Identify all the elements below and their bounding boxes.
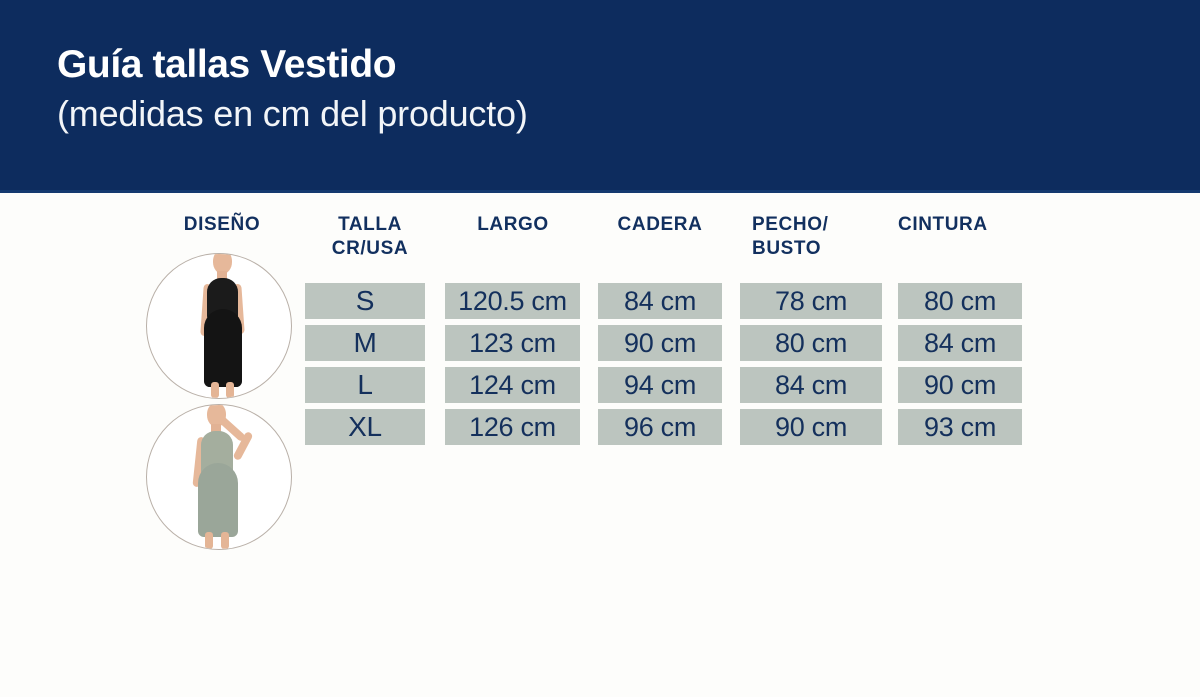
cell-largo-row2: 124 cm <box>445 367 580 403</box>
design-photo-sage-dress <box>146 404 292 550</box>
design-column <box>146 253 298 555</box>
header-banner: Guía tallas Vestido (medidas en cm del p… <box>0 0 1200 190</box>
cell-pecho-row1: 80 cm <box>740 325 882 361</box>
page-subtitle: (medidas en cm del producto) <box>57 92 1200 136</box>
cell-cadera-row1: 90 cm <box>598 325 722 361</box>
cell-pecho-row3: 90 cm <box>740 409 882 445</box>
column-header-diseno: DISEÑO <box>146 213 298 237</box>
cell-cadera-row2: 94 cm <box>598 367 722 403</box>
cell-talla-row1: M <box>305 325 425 361</box>
column-header-pecho-line1: PECHO/ <box>752 213 884 237</box>
column-header-talla-line1: TALLA <box>300 213 440 237</box>
cell-cadera-row0: 84 cm <box>598 283 722 319</box>
cell-cintura-row0: 80 cm <box>898 283 1022 319</box>
dress-illustration-sage <box>147 405 292 550</box>
column-header-pecho-line2: BUSTO <box>752 237 884 261</box>
cell-cintura-row1: 84 cm <box>898 325 1022 361</box>
design-photo-black-dress <box>146 253 292 399</box>
cell-talla-row0: S <box>305 283 425 319</box>
cell-largo-row0: 120.5 cm <box>445 283 580 319</box>
dress-illustration-black <box>147 254 292 399</box>
size-guide-table: DISEÑO TALLA CR/USA LARGO CADERA PECHO/ … <box>0 193 1200 697</box>
cell-talla-row3: XL <box>305 409 425 445</box>
column-header-cintura: CINTURA <box>898 213 1022 237</box>
cell-pecho-row0: 78 cm <box>740 283 882 319</box>
column-header-cadera: CADERA <box>598 213 722 237</box>
cell-cintura-row3: 93 cm <box>898 409 1022 445</box>
cell-talla-row2: L <box>305 367 425 403</box>
cell-cintura-row2: 90 cm <box>898 367 1022 403</box>
cell-cadera-row3: 96 cm <box>598 409 722 445</box>
column-header-talla: TALLA CR/USA <box>300 213 440 261</box>
cell-largo-row1: 123 cm <box>445 325 580 361</box>
page-title: Guía tallas Vestido <box>57 42 1200 88</box>
column-header-talla-line2: CR/USA <box>300 237 440 261</box>
column-header-largo: LARGO <box>445 213 581 237</box>
column-header-pecho-busto: PECHO/ BUSTO <box>752 213 884 261</box>
cell-largo-row3: 126 cm <box>445 409 580 445</box>
cell-pecho-row2: 84 cm <box>740 367 882 403</box>
